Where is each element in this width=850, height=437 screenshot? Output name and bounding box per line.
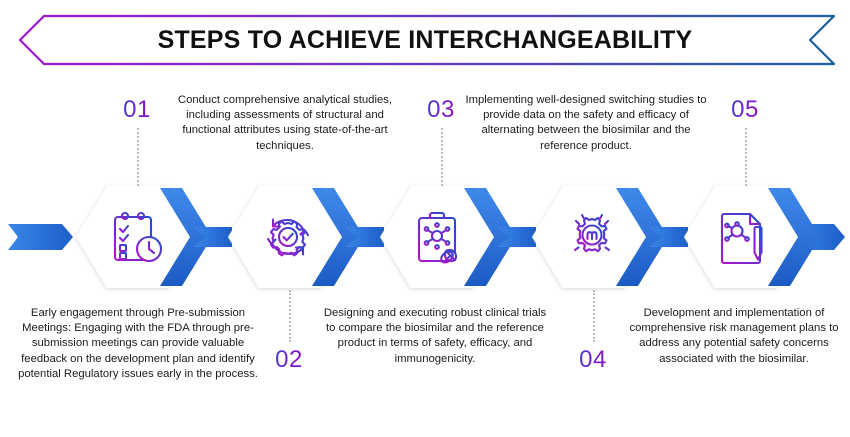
step-description-2: Conduct comprehensive analytical studies… xyxy=(174,93,396,154)
process-flow-strip xyxy=(0,178,850,296)
clipboard-checklist-clock-icon xyxy=(104,205,168,269)
flow-start-arrow xyxy=(8,224,73,250)
leader-line-1 xyxy=(137,128,139,186)
document-molecule-pen-icon xyxy=(712,205,776,269)
step-number-5: 05 xyxy=(715,96,775,124)
step-description-3: Designing and executing robust clinical … xyxy=(318,306,552,367)
step-description-4: Implementing well-designed switching stu… xyxy=(462,93,710,154)
step-number-4: 04 xyxy=(563,346,623,374)
leader-line-2 xyxy=(289,290,291,342)
gear-check-cycle-icon xyxy=(256,205,320,269)
clipboard-molecule-pills-icon xyxy=(408,205,472,269)
leader-line-4 xyxy=(593,290,595,342)
lightbulb-gear-idea-icon xyxy=(560,205,624,269)
step-description-1: Early engagement through Pre-submission … xyxy=(12,306,264,382)
leader-line-5 xyxy=(745,128,747,186)
infographic-root: STEPS TO ACHIEVE INTERCHANGEABILITY xyxy=(0,0,850,437)
step-number-2: 02 xyxy=(259,346,319,374)
step-number-1: 01 xyxy=(107,96,167,124)
leader-line-3 xyxy=(441,128,443,186)
page-title: STEPS TO ACHIEVE INTERCHANGEABILITY xyxy=(14,14,836,66)
step-description-5: Development and implementation of compre… xyxy=(622,306,846,367)
title-banner: STEPS TO ACHIEVE INTERCHANGEABILITY xyxy=(14,14,836,66)
